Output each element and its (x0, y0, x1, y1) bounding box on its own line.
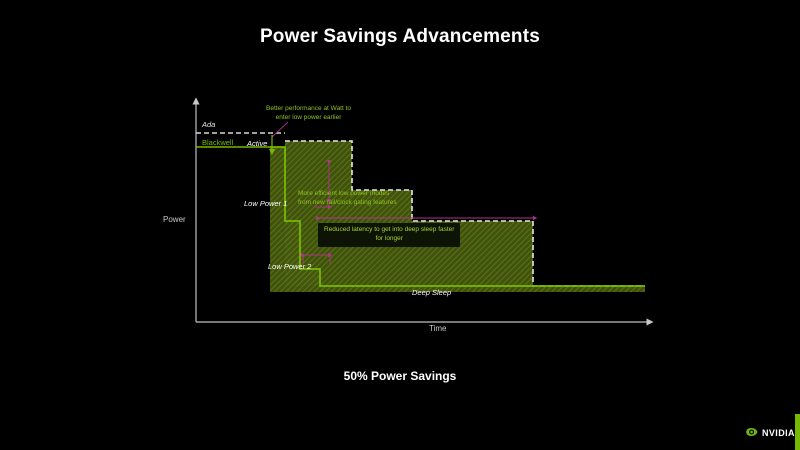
annotation-1-line-2: enter low power earlier (266, 114, 351, 123)
series-label-blackwell: Blackwell (202, 138, 233, 147)
annotation-3-line-1: Reduced latency to get into deep sleep f… (324, 226, 454, 235)
ada-fill-region (285, 141, 533, 286)
y-axis-label: Power (163, 215, 186, 224)
annotation-low-power-modes: More efficient low power modes from new … (298, 190, 397, 208)
nvidia-wordmark: NVIDIA (762, 428, 795, 438)
annotation-2-line-2: from new rail/clock gating features (298, 199, 397, 208)
level-label-low-power-2: Low Power 2 (268, 262, 311, 271)
power-savings-summary: 50% Power Savings (0, 369, 800, 383)
level-label-active: Active (247, 139, 267, 148)
brand-accent-bar (795, 414, 800, 450)
annotation-1-leader (272, 122, 288, 137)
level-label-deep-sleep: Deep Sleep (412, 288, 451, 297)
annotation-3-line-2: for longer (324, 235, 454, 244)
annotation-1-line-1: Better performance at Watt to (266, 105, 351, 114)
series-label-ada: Ada (202, 120, 215, 129)
nvidia-eye-icon (745, 424, 758, 442)
x-axis-label: Time (429, 324, 446, 333)
slide-canvas: Power Savings Advancements (0, 0, 800, 450)
annotation-2-line-1: More efficient low power modes (298, 190, 397, 199)
nvidia-logo: NVIDIA (745, 424, 795, 442)
annotation-reduced-latency: Reduced latency to get into deep sleep f… (318, 223, 460, 247)
annotation-better-performance: Better performance at Watt to enter low … (266, 105, 351, 123)
level-label-low-power-1: Low Power 1 (244, 199, 287, 208)
